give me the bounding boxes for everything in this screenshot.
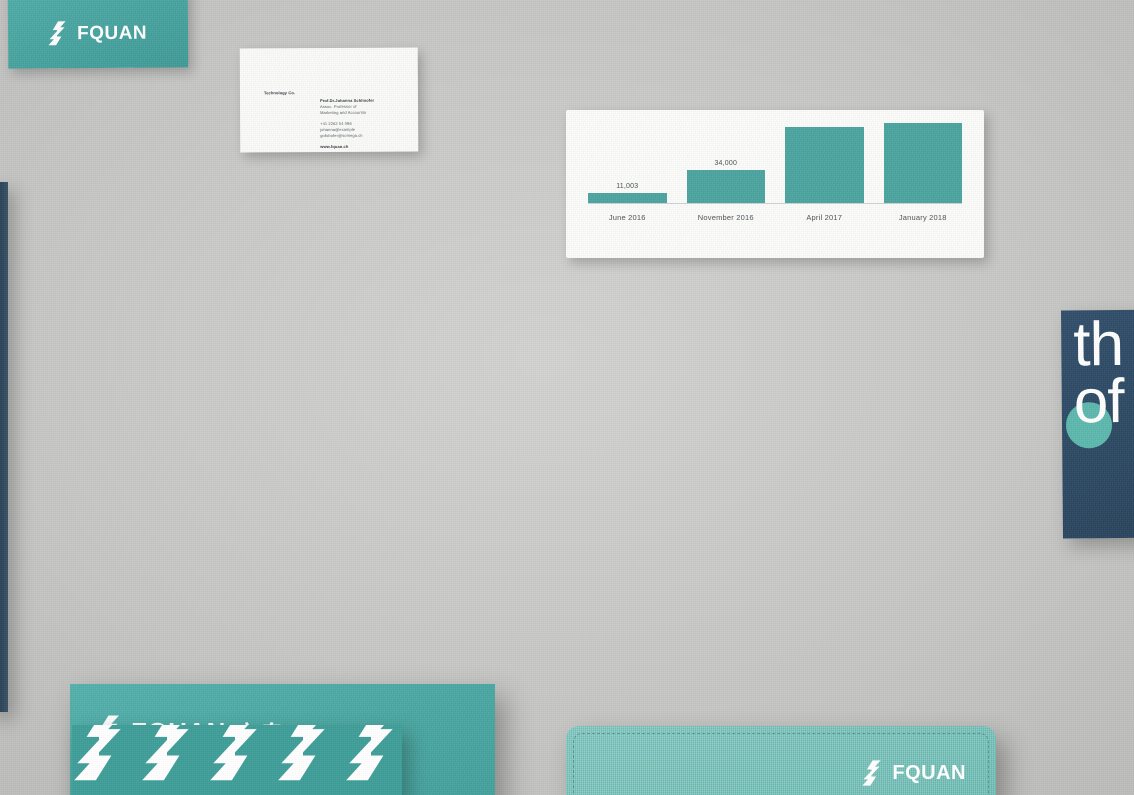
bar-chart: 11,00334,000 June 2016November 2016April…	[588, 120, 962, 224]
logo-wordmark: FQUAN	[892, 763, 966, 783]
chart-bar	[687, 170, 766, 204]
navy-edge-sliver	[0, 182, 8, 712]
business-card-white: Technology Co. Prof.Dr.Johanna Schlinofe…	[240, 48, 419, 153]
chart-category-label: November 2016	[687, 213, 766, 222]
pattern-card	[72, 725, 402, 795]
chart-category-label: June 2016	[588, 213, 667, 222]
business-card-teal: FQUAN	[8, 0, 189, 69]
card-contact-block: Prof.Dr.Johanna Schlinofer Assoc. Profes…	[320, 98, 374, 150]
fquan-mark-icon	[46, 20, 68, 46]
navy-card-type: th of	[1073, 316, 1124, 430]
chart-category-label: January 2018	[884, 213, 963, 222]
fquan-pattern-graphic	[72, 725, 402, 795]
card-company-heading: Technology Co.	[264, 90, 295, 96]
chart-bar	[884, 123, 963, 204]
chart-bar-column: 34,000	[687, 120, 766, 204]
chart-plot-area: 11,00334,000	[588, 120, 962, 204]
chart-category-label: April 2017	[785, 213, 864, 222]
chart-bar-column	[884, 120, 963, 204]
logo-wordmark: FQUAN	[77, 23, 147, 42]
chart-value-label: 34,000	[714, 160, 737, 167]
chart-axis-line	[588, 203, 962, 204]
mockup-canvas: FQUAN Technology Co. Prof.Dr.Johanna Sch…	[0, 0, 1134, 795]
logo-lockup: FQUAN	[860, 759, 966, 787]
fquan-mark-icon	[860, 759, 883, 787]
chart-sheet: 11,00334,000 June 2016November 2016April…	[566, 110, 984, 258]
chart-value-label: 11,003	[616, 183, 638, 190]
chart-category-labels: June 2016November 2016April 2017January …	[588, 213, 962, 222]
logo-lockup: FQUAN	[46, 20, 147, 47]
chart-bar	[785, 127, 864, 204]
fabric-folder: FQUAN	[566, 726, 996, 795]
chart-bar-column	[785, 120, 864, 204]
chart-bar-column: 11,003	[588, 120, 667, 204]
navy-poster-card: th of	[1061, 310, 1134, 539]
